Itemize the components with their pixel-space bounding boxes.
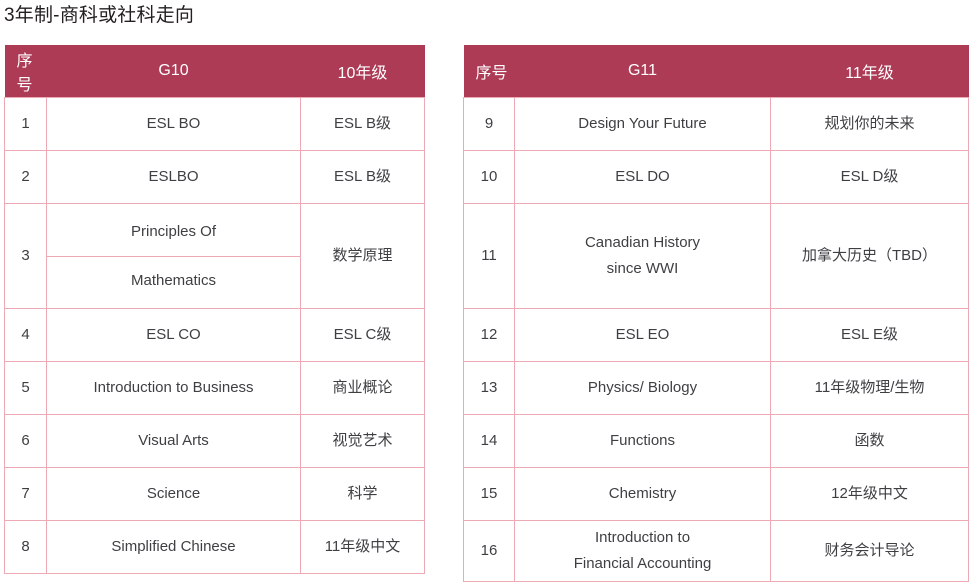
row-chinese: 数学原理 <box>301 204 425 309</box>
row-english-line1: Principles Of <box>47 208 300 256</box>
header-index: 序号 <box>464 45 515 98</box>
row-index: 10 <box>464 151 515 204</box>
row-chinese: 函数 <box>771 415 969 468</box>
row-index: 4 <box>5 309 47 362</box>
page-title: 3年制-商科或社科走向 <box>4 2 194 30</box>
table-row: 3 Principles Of Mathematics 数学原理 <box>5 204 425 309</box>
row-english: ESL CO <box>47 309 301 362</box>
row-index: 15 <box>464 468 515 521</box>
row-english: Introduction to Financial Accounting <box>515 521 771 582</box>
row-chinese: 12年级中文 <box>771 468 969 521</box>
table-row: 16 Introduction to Financial Accounting … <box>464 521 969 582</box>
row-index: 14 <box>464 415 515 468</box>
row-english: ESL EO <box>515 309 771 362</box>
table-row: 14 Functions 函数 <box>464 415 969 468</box>
table-header-row: 序号 G10 10年级 <box>5 45 425 98</box>
row-english-line1: Introduction to <box>521 525 764 551</box>
row-english: ESL BO <box>47 98 301 151</box>
table-row: 6 Visual Arts 视觉艺术 <box>5 415 425 468</box>
row-index: 5 <box>5 362 47 415</box>
table-row: 9 Design Your Future 规划你的未来 <box>464 98 969 151</box>
header-chinese: 11年级 <box>771 45 969 98</box>
header-english: G10 <box>47 45 301 98</box>
row-index: 2 <box>5 151 47 204</box>
row-english-line2: Mathematics <box>47 256 300 304</box>
row-chinese: 视觉艺术 <box>301 415 425 468</box>
table-row: 7 Science 科学 <box>5 468 425 521</box>
table-header-row: 序号 G11 11年级 <box>464 45 969 98</box>
row-chinese: ESL B级 <box>301 151 425 204</box>
row-english-line1: Canadian History <box>521 230 764 256</box>
row-chinese: ESL D级 <box>771 151 969 204</box>
grade-10-table-body: 1 ESL BO ESL B级 2 ESLBO ESL B级 3 Princip… <box>5 98 425 574</box>
row-english: Design Your Future <box>515 98 771 151</box>
row-index: 16 <box>464 521 515 582</box>
row-english: Physics/ Biology <box>515 362 771 415</box>
row-index: 6 <box>5 415 47 468</box>
table-row: 1 ESL BO ESL B级 <box>5 98 425 151</box>
table-row: 5 Introduction to Business 商业概论 <box>5 362 425 415</box>
row-chinese: 加拿大历史（TBD） <box>771 204 969 309</box>
table-row: 13 Physics/ Biology 11年级物理/生物 <box>464 362 969 415</box>
table-row: 8 Simplified Chinese 11年级中文 <box>5 521 425 574</box>
table-row: 12 ESL EO ESL E级 <box>464 309 969 362</box>
row-chinese: 商业概论 <box>301 362 425 415</box>
row-english: Visual Arts <box>47 415 301 468</box>
row-chinese: ESL E级 <box>771 309 969 362</box>
row-english: Introduction to Business <box>47 362 301 415</box>
grade-10-table-header: 序号 G10 10年级 <box>5 45 425 98</box>
row-chinese: 科学 <box>301 468 425 521</box>
row-english: ESLBO <box>47 151 301 204</box>
row-chinese: ESL B级 <box>301 98 425 151</box>
row-index: 3 <box>5 204 47 309</box>
row-index: 7 <box>5 468 47 521</box>
row-english: Functions <box>515 415 771 468</box>
row-index: 1 <box>5 98 47 151</box>
row-english: Canadian History since WWI <box>515 204 771 309</box>
table-row: 15 Chemistry 12年级中文 <box>464 468 969 521</box>
header-chinese: 10年级 <box>301 45 425 98</box>
course-plan-page: 3年制-商科或社科走向 序号 G10 10年级 1 ESL BO ESL B级 … <box>0 0 975 569</box>
table-row: 10 ESL DO ESL D级 <box>464 151 969 204</box>
row-index: 8 <box>5 521 47 574</box>
header-index: 序号 <box>5 45 47 98</box>
row-chinese: 规划你的未来 <box>771 98 969 151</box>
row-english-split: Principles Of Mathematics <box>47 204 301 309</box>
table-row: 11 Canadian History since WWI 加拿大历史（TBD） <box>464 204 969 309</box>
row-index: 11 <box>464 204 515 309</box>
row-chinese: 财务会计导论 <box>771 521 969 582</box>
row-index: 13 <box>464 362 515 415</box>
row-english-line2: Financial Accounting <box>521 551 764 577</box>
table-row: 2 ESLBO ESL B级 <box>5 151 425 204</box>
grade-11-table-header: 序号 G11 11年级 <box>464 45 969 98</box>
table-row: 4 ESL CO ESL C级 <box>5 309 425 362</box>
row-english: Science <box>47 468 301 521</box>
grade-11-table: 序号 G11 11年级 9 Design Your Future 规划你的未来 … <box>463 45 969 582</box>
row-english-line2: since WWI <box>521 256 764 282</box>
header-english: G11 <box>515 45 771 98</box>
row-chinese: 11年级物理/生物 <box>771 362 969 415</box>
row-english: ESL DO <box>515 151 771 204</box>
grade-11-table-body: 9 Design Your Future 规划你的未来 10 ESL DO ES… <box>464 98 969 582</box>
row-english: Simplified Chinese <box>47 521 301 574</box>
row-index: 9 <box>464 98 515 151</box>
grade-10-table: 序号 G10 10年级 1 ESL BO ESL B级 2 ESLBO ESL … <box>4 45 425 574</box>
row-english: Chemistry <box>515 468 771 521</box>
row-index: 12 <box>464 309 515 362</box>
row-chinese: 11年级中文 <box>301 521 425 574</box>
row-chinese: ESL C级 <box>301 309 425 362</box>
